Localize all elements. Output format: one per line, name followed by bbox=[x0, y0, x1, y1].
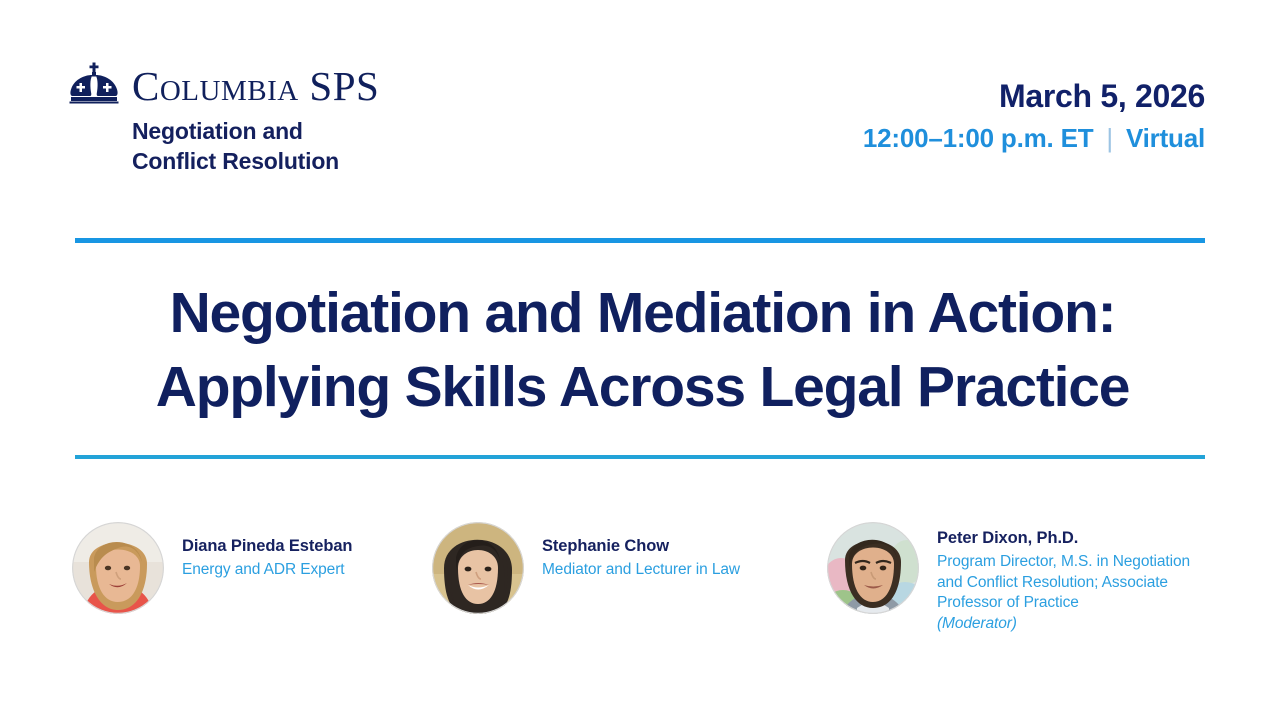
speaker-role: Energy and ADR Expert bbox=[182, 560, 352, 581]
page-title-line-2: Applying Skills Across Legal Practice bbox=[75, 350, 1210, 424]
speaker-role-line-2: and Conflict Resolution; Associate bbox=[937, 573, 1190, 594]
speaker-card: Stephanie Chow Mediator and Lecturer in … bbox=[432, 520, 827, 614]
avatar bbox=[72, 522, 164, 614]
event-date: March 5, 2026 bbox=[863, 78, 1205, 115]
divider-top bbox=[75, 238, 1205, 243]
columbia-crown-icon bbox=[68, 62, 120, 104]
speaker-role-line-3: Professor of Practice (Moderator) bbox=[937, 593, 1190, 635]
program-name: Negotiation and Conflict Resolution bbox=[132, 116, 379, 177]
program-name-line-2: Conflict Resolution bbox=[132, 146, 379, 176]
meta-separator: | bbox=[1106, 123, 1113, 154]
speaker-list: Diana Pineda Esteban Energy and ADR Expe… bbox=[72, 520, 1212, 635]
speaker-name: Diana Pineda Esteban bbox=[182, 537, 352, 557]
speaker-name: Peter Dixon, Ph.D. bbox=[937, 529, 1190, 549]
speaker-text: Stephanie Chow Mediator and Lecturer in … bbox=[524, 520, 740, 581]
divider-bottom bbox=[75, 455, 1205, 459]
brand-lockup: Columbia SPS Negotiation and Conflict Re… bbox=[68, 62, 379, 177]
speaker-card: Diana Pineda Esteban Energy and ADR Expe… bbox=[72, 520, 432, 614]
columbia-sps-wordmark: Columbia SPS bbox=[132, 67, 379, 106]
brand-top-row: Columbia SPS bbox=[68, 62, 379, 106]
speaker-card: Peter Dixon, Ph.D. Program Director, M.S… bbox=[827, 520, 1212, 635]
page-title-line-1: Negotiation and Mediation in Action: bbox=[75, 276, 1210, 350]
page-title: Negotiation and Mediation in Action: App… bbox=[75, 276, 1210, 424]
speaker-role-line-3-text: Professor of Practice bbox=[937, 593, 1190, 614]
event-announcement-slide: Columbia SPS Negotiation and Conflict Re… bbox=[0, 0, 1280, 720]
speaker-role-line-1: Program Director, M.S. in Negotiation bbox=[937, 552, 1190, 573]
moderator-tag: (Moderator) bbox=[937, 615, 1017, 632]
speaker-role-line-1: Mediator and Lecturer in Law bbox=[542, 560, 740, 581]
speaker-role: Program Director, M.S. in Negotiation an… bbox=[937, 552, 1190, 635]
avatar bbox=[827, 522, 919, 614]
event-time: 12:00–1:00 p.m. ET bbox=[863, 123, 1094, 154]
speaker-role-line-1: Energy and ADR Expert bbox=[182, 560, 352, 581]
avatar bbox=[432, 522, 524, 614]
speaker-text: Peter Dixon, Ph.D. Program Director, M.S… bbox=[919, 520, 1190, 635]
event-time-format: 12:00–1:00 p.m. ET | Virtual bbox=[863, 123, 1205, 154]
slide-header: Columbia SPS Negotiation and Conflict Re… bbox=[0, 0, 1280, 210]
speaker-role: Mediator and Lecturer in Law bbox=[542, 560, 740, 581]
speaker-name: Stephanie Chow bbox=[542, 537, 740, 557]
event-format: Virtual bbox=[1126, 123, 1205, 154]
program-name-line-1: Negotiation and bbox=[132, 116, 379, 146]
speaker-text: Diana Pineda Esteban Energy and ADR Expe… bbox=[164, 520, 352, 581]
event-meta: March 5, 2026 12:00–1:00 p.m. ET | Virtu… bbox=[863, 78, 1205, 154]
